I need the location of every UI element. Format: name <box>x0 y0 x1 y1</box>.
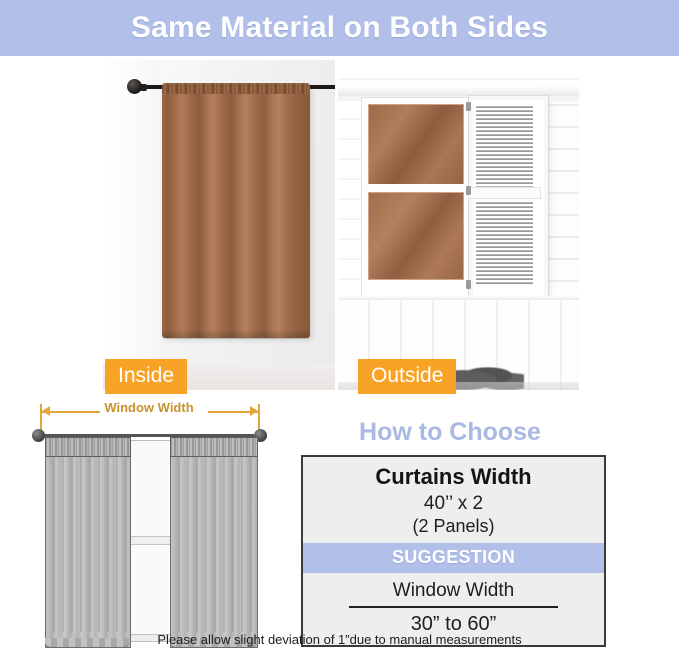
curtains-width-size: 40’’ x 2 <box>303 492 604 515</box>
suggestion-header: SUGGESTION <box>303 543 604 573</box>
page-title: Same Material on Both Sides <box>131 11 548 45</box>
size-guide-table: Curtains Width 40’’ x 2 (2 Panels) SUGGE… <box>301 455 606 647</box>
interior-wall-shadow <box>103 60 161 390</box>
window-width-header: Window Width <box>303 573 604 606</box>
brown-curtain-panel <box>162 86 310 338</box>
diagram-folds-right <box>171 454 255 632</box>
dimension-arrow-left-icon <box>42 406 50 416</box>
window-mullion <box>362 184 468 192</box>
curtain-rod-pocket <box>162 83 310 94</box>
shutter-hinge-middle-icon <box>466 186 471 195</box>
tag-outside: Outside <box>358 359 456 394</box>
header-banner: Same Material on Both Sides <box>0 0 679 56</box>
dimension-arrow-right-icon <box>250 406 258 416</box>
photo-outside <box>338 60 579 390</box>
diagram-rod-pocket-left <box>45 437 131 457</box>
photo-comparison-row <box>0 56 679 390</box>
exterior-top-trim <box>338 86 579 96</box>
curtain-hem <box>162 331 310 339</box>
shutter-louvers-lower <box>476 200 533 284</box>
window-pane-lower <box>368 192 464 280</box>
curtains-width-header: Curtains Width <box>303 457 604 492</box>
curtains-width-panels: (2 Panels) <box>303 515 604 543</box>
how-to-choose-section: How to Choose Curtains Width 40’’ x 2 (2… <box>290 418 610 647</box>
window-pane-upper <box>368 104 464 186</box>
curtain-finial-icon <box>127 79 142 94</box>
diagram-rod-pocket-right <box>170 437 258 457</box>
photo-inside <box>103 60 335 390</box>
shutter-louvers-upper <box>476 104 533 188</box>
infographic-page: Same Material on Both Sides <box>0 0 679 655</box>
curtain-rod-extension <box>308 85 335 89</box>
diagram-window-sash <box>126 536 174 545</box>
shutter-hinge-top-icon <box>466 102 471 111</box>
measurement-disclaimer: Please allow slight deviation of 1”due t… <box>0 632 679 647</box>
window-width-dimension-label: Window Width <box>18 398 280 416</box>
shutter-hinge-bottom-icon <box>466 280 471 289</box>
shutter-center-rail <box>469 188 540 198</box>
curtain-measurement-diagram: Window Width <box>18 398 280 648</box>
dimension-tick-right <box>258 404 260 430</box>
diagram-finial-left-icon <box>32 429 45 442</box>
tag-inside: Inside <box>105 359 187 394</box>
diagram-folds-left <box>46 454 128 632</box>
how-to-choose-title: How to Choose <box>290 418 610 447</box>
